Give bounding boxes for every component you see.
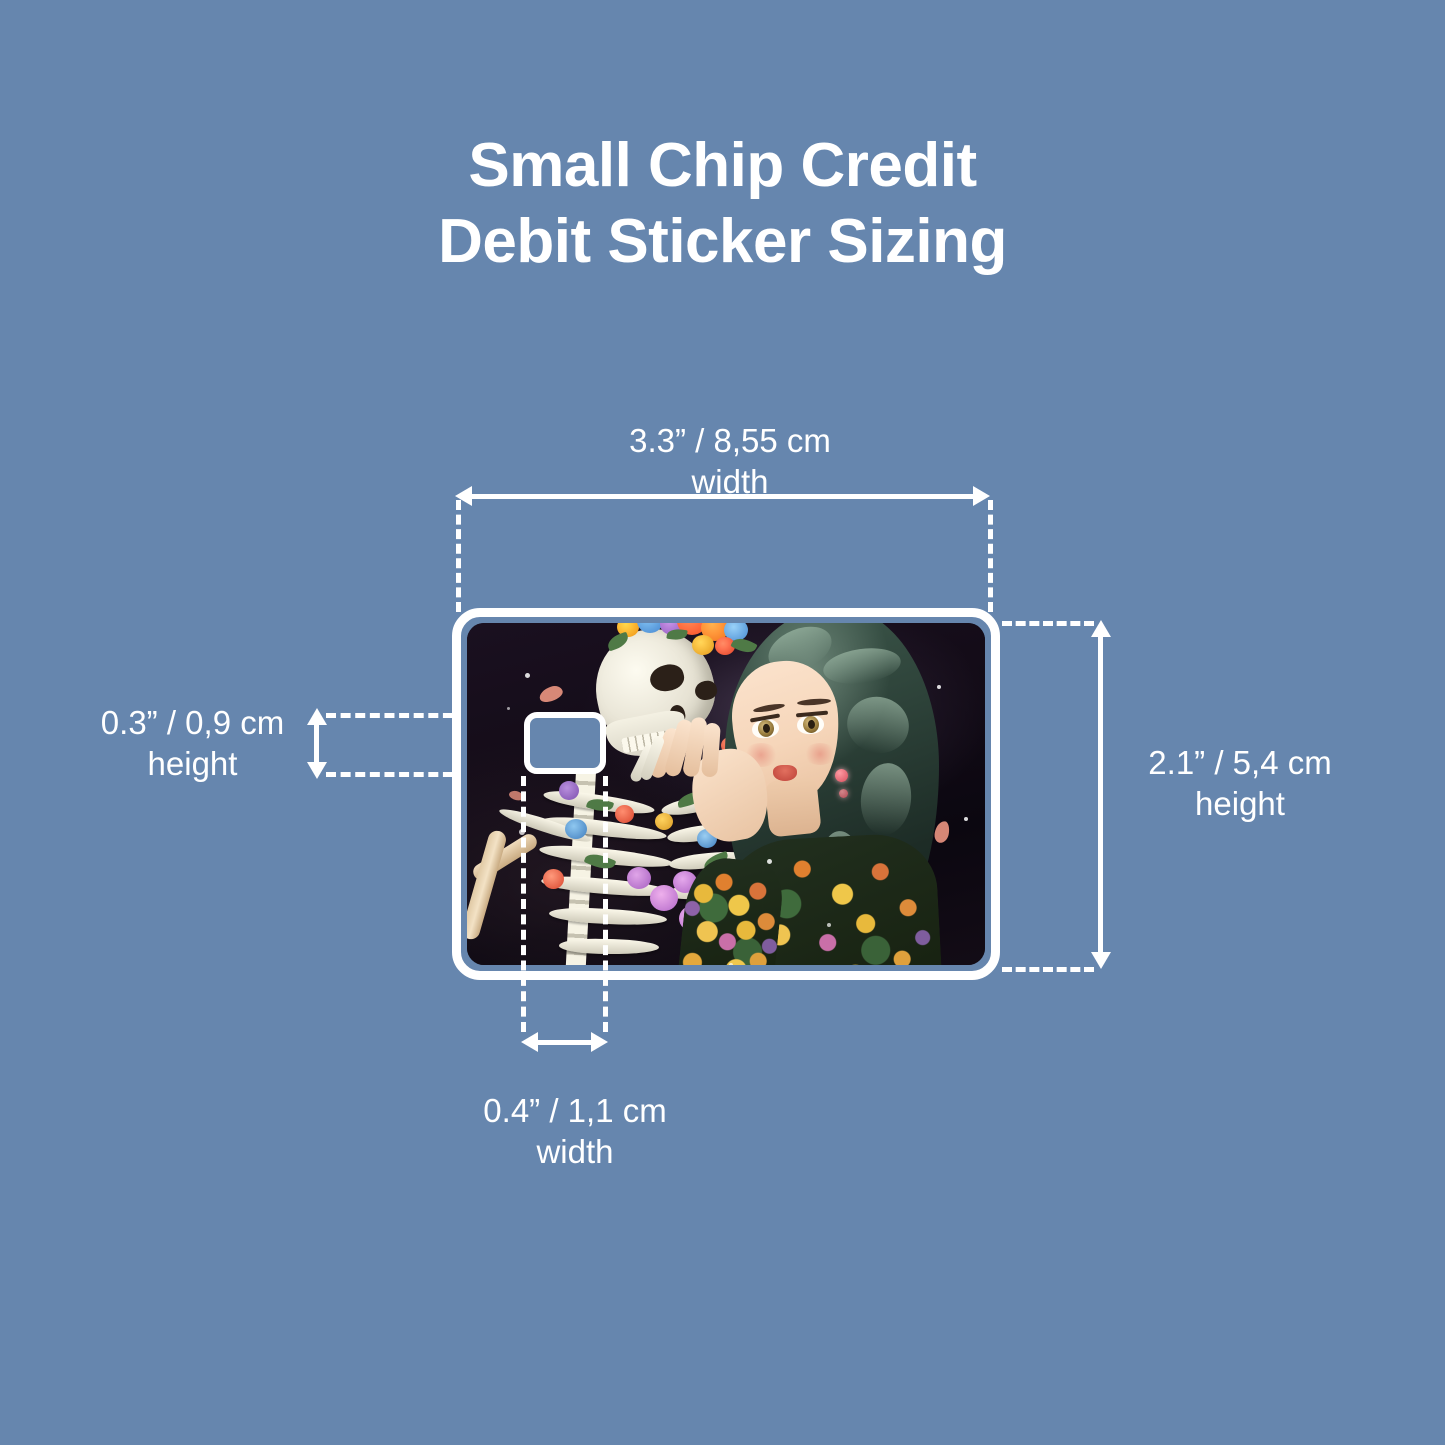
rib-flower	[615, 805, 634, 823]
card-width-arrow-line	[470, 494, 976, 499]
womans-neck	[764, 776, 822, 837]
rib-flower	[559, 781, 579, 800]
rib	[559, 938, 659, 955]
sparkle-icon	[729, 963, 733, 965]
earring	[839, 789, 848, 798]
card-top-extension-line-right	[1002, 621, 1094, 626]
sparkle-icon	[525, 673, 530, 678]
crown-flower	[692, 635, 714, 655]
chip-height-label: 0.3” / 0,9 cm height	[80, 702, 305, 785]
chip-width-arrow-head-left	[521, 1032, 538, 1052]
chip-cutout[interactable]	[524, 712, 606, 774]
chip-height-arrow-head-top	[307, 708, 327, 725]
card-sticker[interactable]	[452, 608, 1000, 980]
rib-flower	[655, 813, 673, 830]
lips	[773, 765, 797, 781]
sparkle-icon	[767, 859, 772, 864]
card-right-extension-line	[988, 500, 993, 612]
chip-height-arrow-line	[314, 724, 319, 764]
rib-flower	[543, 869, 564, 889]
card-height-arrow-head-top	[1091, 620, 1111, 637]
sparkle-icon	[937, 685, 941, 689]
sparkle-icon	[964, 817, 968, 821]
cheek-blush	[803, 743, 837, 765]
card-height-arrow-head-bottom	[1091, 952, 1111, 969]
card-height-label: 2.1” / 5,4 cm height	[1115, 742, 1365, 825]
card-artwork	[467, 623, 985, 965]
rib-flower	[650, 885, 678, 911]
chip-height-arrow-head-bottom	[307, 762, 327, 779]
card-left-extension-line	[456, 500, 461, 612]
earring	[835, 769, 848, 782]
card-bottom-extension-line-right	[1002, 967, 1094, 972]
chip-width-arrow-line	[536, 1040, 594, 1045]
sparkle-icon	[827, 923, 831, 927]
rib	[549, 906, 668, 927]
card-width-label: 3.3” / 8,55 cm width	[540, 420, 920, 503]
page-title: Small Chip Credit Debit Sticker Sizing	[0, 128, 1445, 279]
chip-width-arrow-head-right	[591, 1032, 608, 1052]
chip-right-guide-line	[603, 776, 608, 1032]
chip-left-guide-line	[521, 776, 526, 1032]
rib-flower	[565, 819, 587, 839]
sparkle-icon	[507, 707, 510, 710]
rib-flower	[627, 867, 651, 889]
sizing-diagram-canvas: Small Chip Credit Debit Sticker Sizing 3…	[0, 0, 1445, 1445]
card-height-arrow-line	[1098, 636, 1103, 954]
chip-width-label: 0.4” / 1,1 cm width	[455, 1090, 695, 1173]
